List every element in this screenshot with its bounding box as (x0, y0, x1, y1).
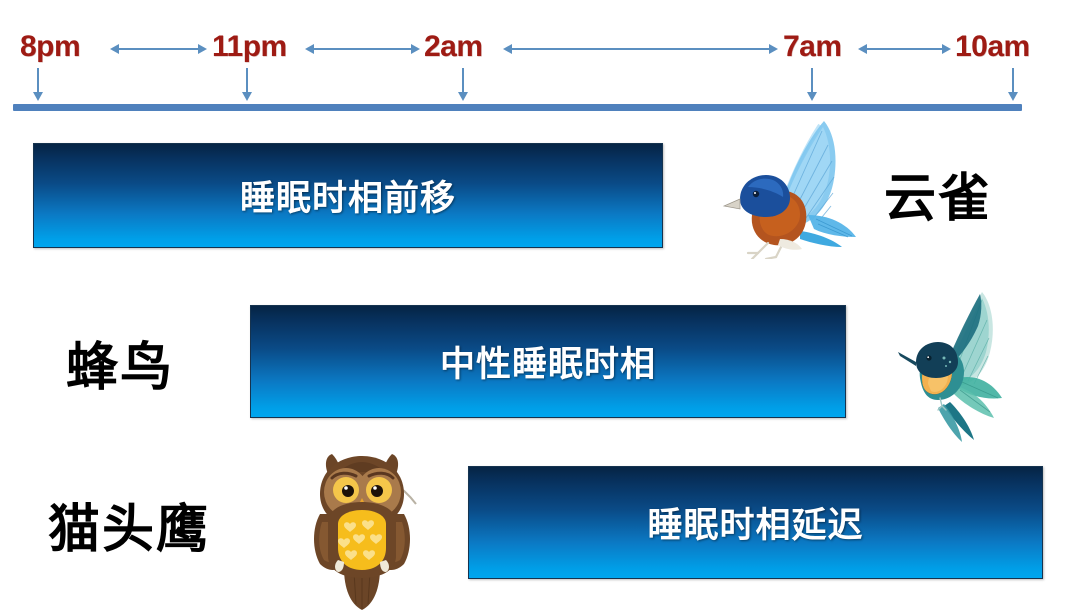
tick-stem (37, 68, 39, 94)
time-label-7am: 7am (783, 30, 842, 64)
tick-head (807, 92, 817, 101)
timeline-axis (13, 104, 1022, 111)
hummingbird-icon (898, 286, 1008, 446)
owl-icon (298, 452, 428, 615)
tick-stem (1012, 68, 1014, 94)
chronotype-label-lark: 云雀 (884, 156, 992, 231)
time-label-2am: 2am (424, 30, 483, 64)
connector-arrowhead-left (858, 44, 867, 54)
time-label-8pm: 8pm (20, 30, 80, 64)
connector-arrowhead-right (198, 44, 207, 54)
tick-stem (811, 68, 813, 94)
bluebird-lark-icon (722, 111, 862, 259)
chronotype-label-owl: 猫头鹰 (48, 487, 210, 562)
connector-arrowhead-right (942, 44, 951, 54)
connector-line (119, 48, 199, 50)
connector-line (314, 48, 412, 50)
tick-head (242, 92, 252, 101)
connector-arrowhead-right (411, 44, 420, 54)
connector-arrowhead-right (769, 44, 778, 54)
chronotype-label-hummingbird: 蜂鸟 (66, 325, 174, 400)
phase-bar-neutral: 中性睡眠时相 (250, 305, 846, 418)
connector-line (867, 48, 943, 50)
connector-arrowhead-left (503, 44, 512, 54)
time-label-11pm: 11pm (212, 30, 287, 64)
chronotype-diagram: 8pm 11pm 2am 7am 10am (0, 0, 1080, 615)
tick-head (1008, 92, 1018, 101)
phase-bar-advanced: 睡眠时相前移 (33, 143, 663, 248)
connector-line (512, 48, 770, 50)
phase-bar-label: 睡眠时相前移 (240, 170, 456, 221)
tick-stem (246, 68, 248, 94)
phase-bar-delayed: 睡眠时相延迟 (468, 466, 1043, 579)
time-label-10am: 10am (955, 30, 1030, 64)
phase-bar-label: 睡眠时相延迟 (647, 497, 863, 548)
phase-bar-label: 中性睡眠时相 (440, 336, 656, 387)
tick-stem (462, 68, 464, 94)
connector-arrowhead-left (305, 44, 314, 54)
tick-head (33, 92, 43, 101)
tick-head (458, 92, 468, 101)
connector-arrowhead-left (110, 44, 119, 54)
